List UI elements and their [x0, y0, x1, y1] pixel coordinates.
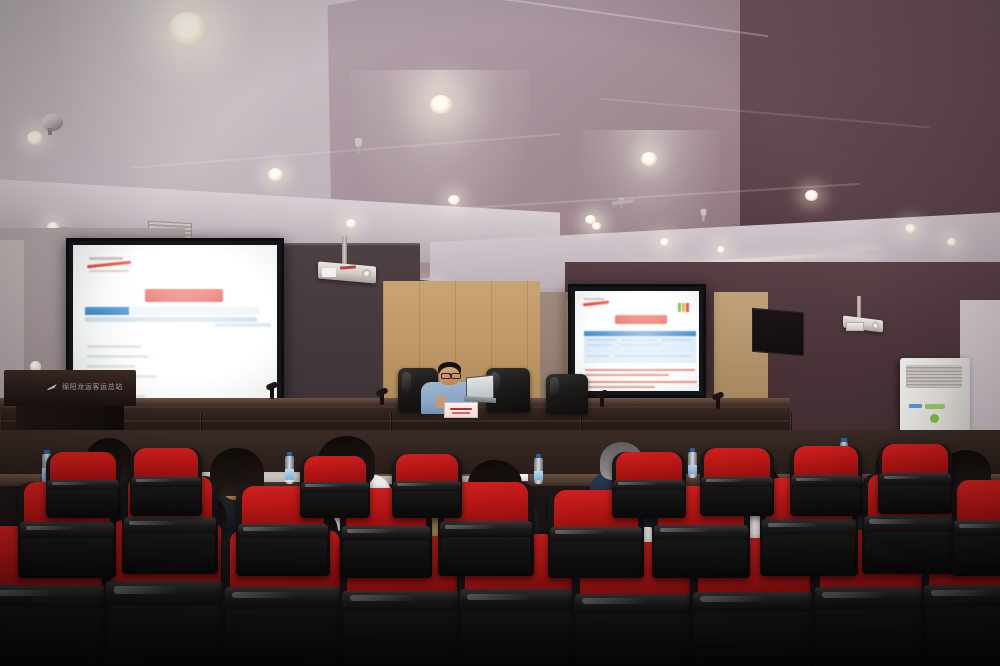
audience-seating	[0, 430, 1000, 666]
downlight-icon	[346, 219, 356, 228]
seat-back-lower	[108, 605, 225, 666]
microphone-icon	[716, 396, 720, 409]
water-bottle	[285, 456, 294, 484]
auditorium-seat	[46, 452, 120, 518]
microphone-icon	[600, 394, 604, 407]
microphone-icon	[270, 386, 274, 399]
seat-back-lower	[702, 487, 772, 516]
downlight-icon	[268, 168, 283, 181]
venue-logo-icon	[46, 383, 59, 391]
seat-cushion	[794, 446, 857, 478]
lectern-top: 绵阳龙运客运总站	[4, 370, 136, 406]
ac-indicator	[930, 414, 939, 423]
seat-back-lower	[343, 540, 429, 578]
seat-back-lower	[462, 611, 577, 666]
ac-logo	[925, 404, 945, 409]
downlight-icon	[27, 131, 43, 145]
downlight-icon	[805, 190, 818, 201]
auditorium-seat	[790, 446, 862, 516]
seat-back-lower	[880, 485, 950, 514]
wall-plaque	[846, 322, 864, 331]
auditorium-photo: 绵阳龙运客运总站	[0, 0, 1000, 666]
downlight-icon	[430, 95, 452, 114]
seat-back-lower	[551, 541, 641, 578]
seat-back-lower	[21, 538, 113, 578]
seat-back-lower	[955, 536, 1000, 576]
seat-back-lower	[816, 609, 936, 666]
seat-cushion	[134, 448, 197, 479]
seat-back-lower	[576, 614, 694, 666]
seat-cushion	[50, 452, 115, 482]
seat-back-lower	[125, 533, 215, 574]
seat-cushion	[957, 480, 1000, 524]
seat-back-lower	[302, 492, 368, 518]
sprinkler-icon	[355, 138, 362, 147]
downlight-icon	[947, 238, 956, 246]
seat-back-lower	[441, 537, 531, 576]
seat-back-lower	[394, 491, 460, 518]
seat-back-lower	[0, 607, 106, 666]
seat-back-lower	[926, 607, 1000, 666]
downlight-icon	[717, 246, 725, 253]
auditorium-seat	[130, 448, 202, 516]
ac-grille	[906, 365, 962, 388]
slide-title-bar	[615, 315, 667, 324]
lectern-sign-text: 绵阳龙运客运总站	[62, 382, 123, 392]
seat-back-lower	[655, 539, 747, 578]
seat-back-lower	[226, 609, 344, 666]
water-bottle	[534, 458, 543, 484]
seat-cushion	[304, 456, 366, 485]
seat-back-lower	[344, 611, 461, 666]
auditorium-seat	[952, 480, 1000, 576]
downlight-icon	[168, 12, 208, 46]
auditorium-seat	[612, 452, 686, 518]
seat-back-lower	[865, 532, 955, 574]
ac-brand-label	[909, 404, 922, 408]
seat-back-lower	[614, 490, 684, 518]
seat-back-lower	[763, 535, 855, 576]
auditorium-seat	[700, 448, 774, 516]
laptop	[466, 376, 498, 402]
downlight-icon	[660, 238, 669, 246]
slide-title-bar	[145, 289, 223, 302]
auditorium-seat	[300, 456, 370, 518]
seat-back-lower	[132, 487, 200, 516]
downlight-icon	[641, 152, 657, 166]
water-bottle	[688, 452, 697, 478]
seat-back-lower	[694, 612, 814, 666]
seat-cushion	[396, 454, 458, 483]
seat-cushion	[616, 452, 681, 482]
slide-right	[575, 291, 699, 391]
auditorium-seat	[878, 444, 952, 514]
projection-screen-right	[568, 284, 706, 398]
seat-cushion	[882, 444, 947, 476]
sprinkler-icon	[701, 209, 707, 216]
auditorium-seat	[392, 454, 462, 518]
seat-back-lower	[48, 490, 118, 518]
seat-back-lower	[239, 538, 327, 576]
seat-cushion	[704, 448, 769, 479]
wall-speaker	[752, 308, 804, 357]
seat-back-lower	[792, 487, 860, 516]
downlight-icon	[592, 222, 601, 230]
microphone-icon	[380, 392, 384, 405]
name-placard	[444, 402, 478, 418]
exec-chair	[546, 374, 588, 414]
